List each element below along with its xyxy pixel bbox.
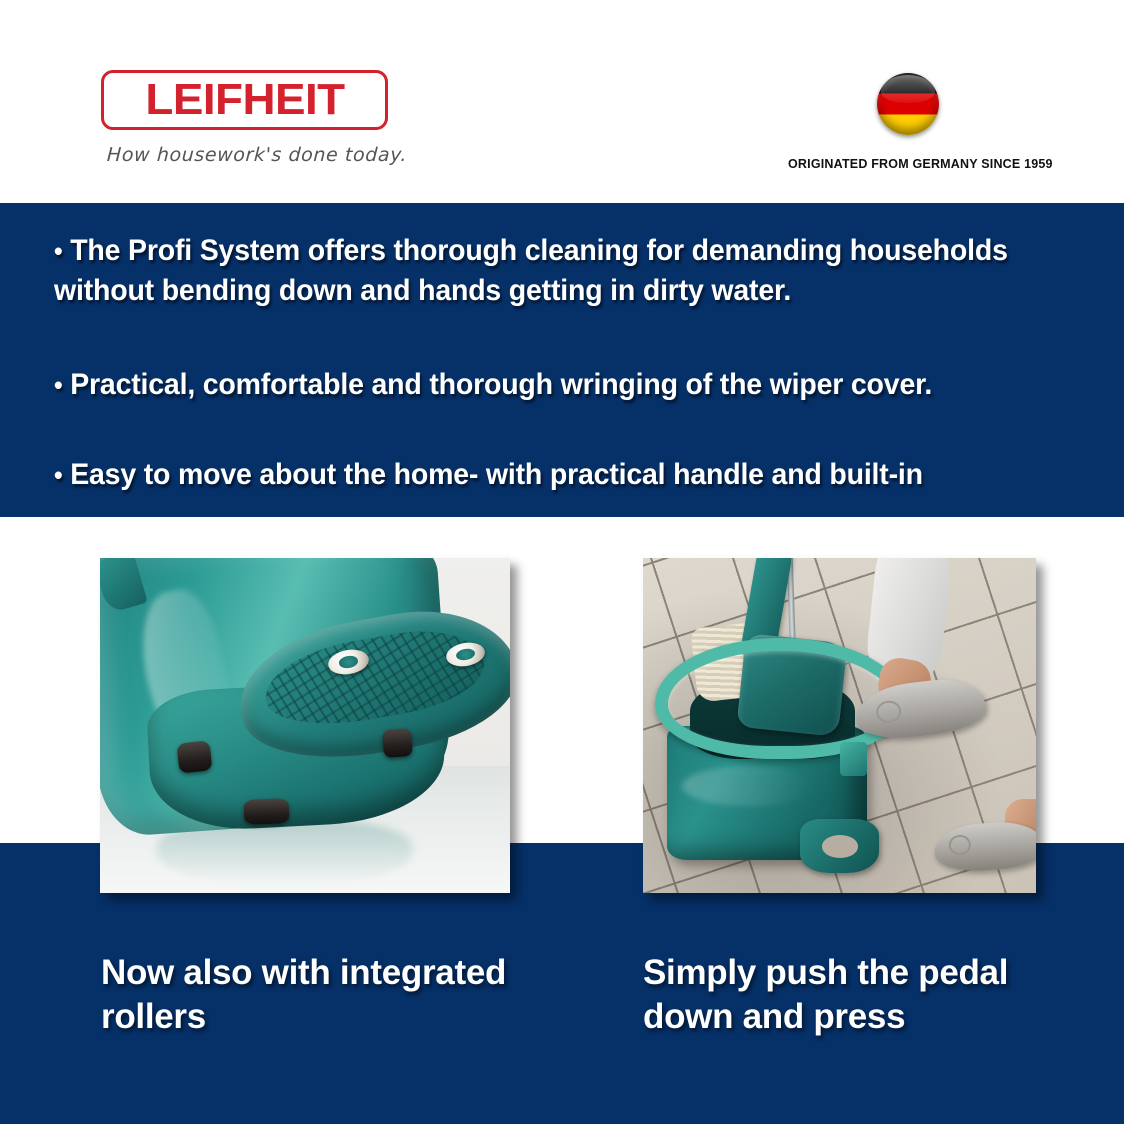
roller-caster-icon — [382, 728, 413, 758]
origin-block: ORIGINATED FROM GERMANY SINCE 1959 — [788, 73, 1028, 171]
foot-pedal — [800, 819, 879, 873]
bullet-marker-icon: • — [54, 370, 62, 400]
origin-caption: ORIGINATED FROM GERMANY SINCE 1959 — [788, 157, 1028, 171]
bucket-highlight — [682, 766, 816, 806]
logo-tagline: How housework's done today. — [106, 144, 407, 166]
bullet-list: • The Profi System offers thorough clean… — [54, 227, 1102, 495]
bullet-item-1: • The Profi System offers thorough clean… — [54, 231, 1050, 311]
rollers-photo-scene — [100, 558, 510, 893]
leifheit-logo: LEIFHEIT — [101, 70, 388, 130]
feature-bullets-band: • The Profi System offers thorough clean… — [0, 203, 1124, 517]
bullet-item-3: • Easy to move about the home- with prac… — [54, 455, 1050, 495]
header-banner: LEIFHEIT How housework's done today. ORI… — [0, 0, 1124, 203]
badge-gloss-overlay — [881, 75, 936, 104]
logo-wordmark: LEIFHEIT — [145, 78, 344, 122]
germany-flag-badge-icon — [877, 73, 939, 135]
feature-caption-rollers: Now also with integrated rollers — [101, 951, 531, 1039]
bullet-item-3-text: Easy to move about the home- with practi… — [70, 458, 923, 491]
bullet-marker-icon: • — [54, 236, 62, 266]
roller-caster-icon — [176, 741, 212, 774]
product-photo-pedal — [643, 558, 1036, 893]
product-photo-rollers — [100, 558, 510, 893]
bullet-item-2: • Practical, comfortable and thorough wr… — [54, 365, 1050, 405]
bullet-item-2-text: Practical, comfortable and thorough wrin… — [70, 368, 932, 401]
badge-rim-shading — [877, 73, 939, 135]
brand-block: LEIFHEIT How housework's done today. — [101, 70, 401, 130]
feature-caption-pedal: Simply push the pedal down and press — [643, 951, 1043, 1039]
bullet-marker-icon: • — [54, 460, 62, 490]
bucket-side-tab — [840, 742, 868, 776]
roller-caster-icon — [243, 798, 289, 825]
pedal-photo-scene — [643, 558, 1036, 893]
bullet-item-1-text: The Profi System offers thorough cleanin… — [54, 234, 1008, 307]
